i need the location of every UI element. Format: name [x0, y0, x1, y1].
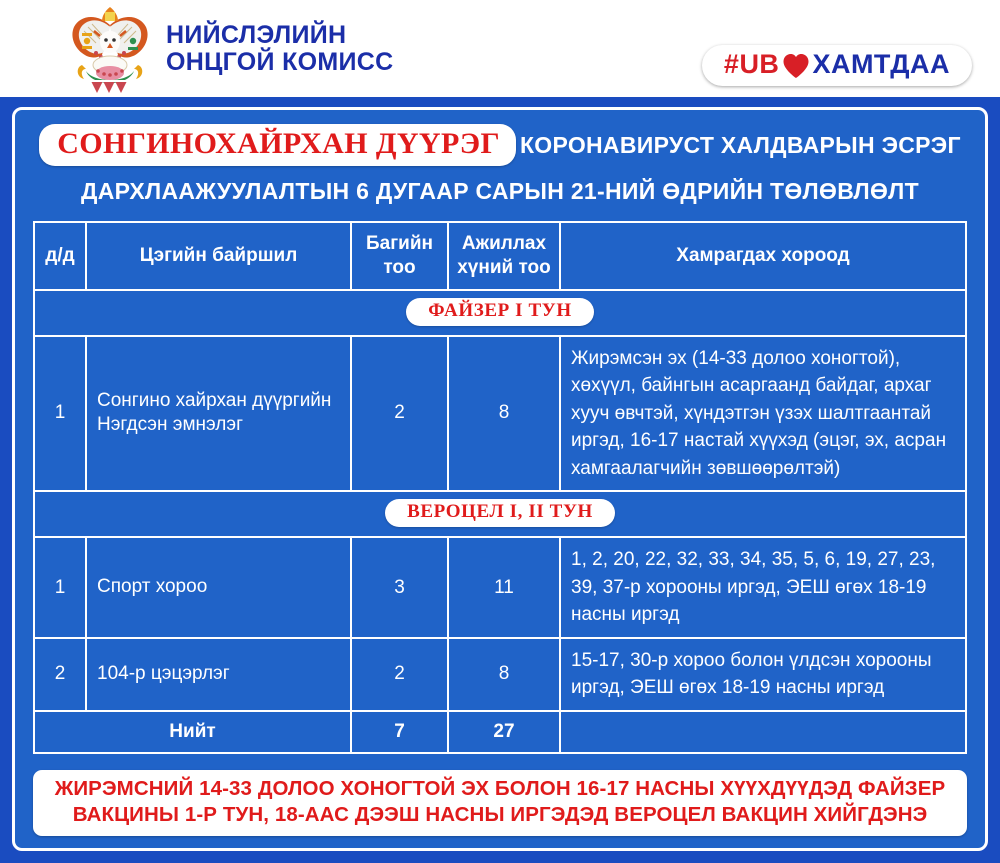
row-staff: 11: [448, 537, 560, 638]
row-location: Спорт хороо: [86, 537, 351, 638]
row-staff: 8: [448, 336, 560, 492]
hashtag-prefix: #UB: [724, 49, 780, 80]
title-line-2: ДАРХЛААЖУУЛАЛТЫН 6 ДУГААР САРЫН 21-НИЙ Ө…: [33, 178, 967, 205]
row-teams: 3: [351, 537, 448, 638]
table-row: 2 104-р цэцэрлэг 2 8 15-17, 30-р хороо б…: [34, 638, 966, 711]
table-row: 1 Сонгино хайрхан дүүргийн Нэгдсэн эмнэл…: [34, 336, 966, 492]
row-khoroo: 1, 2, 20, 22, 32, 33, 34, 35, 5, 6, 19, …: [560, 537, 966, 638]
section-header-cell: ВЕРОЦЕЛ I, II ТУН: [34, 491, 966, 537]
row-index: 1: [34, 537, 86, 638]
row-staff: 8: [448, 638, 560, 711]
page-title: СОНГИНОХАЙРХАН ДҮҮРЭГ КОРОНАВИРУСТ ХАЛДВ…: [33, 124, 967, 205]
row-teams: 2: [351, 638, 448, 711]
title-subject: КОРОНАВИРУСТ ХАЛДВАРЫН ЭСРЭГ: [516, 132, 961, 159]
table-header-row: д/д Цэгийн байршил Багийн тоо Ажиллах хү…: [34, 222, 966, 290]
row-teams: 2: [351, 336, 448, 492]
hashtag-suffix: ХАМТДАА: [812, 49, 950, 80]
row-khoroo: Жирэмсэн эх (14-33 долоо хоногтой), хөхү…: [560, 336, 966, 492]
content-frame: СОНГИНОХАЙРХАН ДҮҮРЭГ КОРОНАВИРУСТ ХАЛДВ…: [12, 107, 988, 851]
org-name-line1: НИЙСЛЭЛИЙН: [166, 21, 346, 49]
column-header-khoroo: Хамрагдах хороод: [560, 222, 966, 290]
column-header-staff: Ажиллах хүний тоо: [448, 222, 560, 290]
section-badge-verocell: ВЕРОЦЕЛ I, II ТУН: [385, 499, 615, 527]
table-header: д/д Цэгийн байршил Багийн тоо Ажиллах хү…: [34, 222, 966, 290]
title-line-1: СОНГИНОХАЙРХАН ДҮҮРЭГ КОРОНАВИРУСТ ХАЛДВ…: [33, 124, 967, 166]
total-staff: 27: [448, 711, 560, 753]
total-label: Нийт: [34, 711, 351, 753]
table-body: ФАЙЗЕР I ТУН 1 Сонгино хайрхан дүүргийн …: [34, 290, 966, 753]
section-header-cell: ФАЙЗЕР I ТУН: [34, 290, 966, 336]
section-header-row: ВЕРОЦЕЛ I, II ТУН: [34, 491, 966, 537]
footer-notice: ЖИРЭМСНИЙ 14-33 ДОЛОО ХОНОГТОЙ ЭХ БОЛОН …: [33, 770, 967, 836]
row-location: 104-р цэцэрлэг: [86, 638, 351, 711]
ulaanbaatar-city-emblem: [64, 3, 156, 95]
row-location: Сонгино хайрхан дүүргийн Нэгдсэн эмнэлэг: [86, 336, 351, 492]
org-name-line2: ОНЦГОЙ КОМИСС: [166, 49, 393, 76]
hashtag-badge: #UB ХАМТДАА: [702, 45, 972, 86]
row-index: 2: [34, 638, 86, 711]
table-row: 1 Спорт хороо 3 11 1, 2, 20, 22, 32, 33,…: [34, 537, 966, 638]
column-header-teams: Багийн тоо: [351, 222, 448, 290]
vaccination-plan-table: д/д Цэгийн байршил Багийн тоо Ажиллах хү…: [33, 221, 967, 754]
header-bar: НИЙСЛЭЛИЙН ОНЦГОЙ КОМИСС #UB ХАМТДАА: [0, 0, 1000, 97]
footer-line-2: ВАКЦИНЫ 1-Р ТУН, 18-ААС ДЭЭШ НАСНЫ ИРГЭД…: [43, 802, 957, 828]
heart-icon: [782, 53, 810, 79]
section-header-row: ФАЙЗЕР I ТУН: [34, 290, 966, 336]
total-row: Нийт 7 27: [34, 711, 966, 753]
footer-line-1: ЖИРЭМСНИЙ 14-33 ДОЛОО ХОНОГТОЙ ЭХ БОЛОН …: [43, 776, 957, 802]
section-badge-pfizer: ФАЙЗЕР I ТУН: [406, 298, 593, 326]
poster-root: НИЙСЛЭЛИЙН ОНЦГОЙ КОМИСС #UB ХАМТДАА СОН…: [0, 0, 1000, 863]
column-header-location: Цэгийн байршил: [86, 222, 351, 290]
total-teams: 7: [351, 711, 448, 753]
row-index: 1: [34, 336, 86, 492]
row-khoroo: 15-17, 30-р хороо болон үлдсэн хорооны и…: [560, 638, 966, 711]
district-name-badge: СОНГИНОХАЙРХАН ДҮҮРЭГ: [39, 124, 516, 166]
column-header-index: д/д: [34, 222, 86, 290]
total-khoroo: [560, 711, 966, 753]
poster-body: СОНГИНОХАЙРХАН ДҮҮРЭГ КОРОНАВИРУСТ ХАЛДВ…: [0, 97, 1000, 863]
organization-name: НИЙСЛЭЛИЙН ОНЦГОЙ КОМИСС: [166, 22, 393, 76]
